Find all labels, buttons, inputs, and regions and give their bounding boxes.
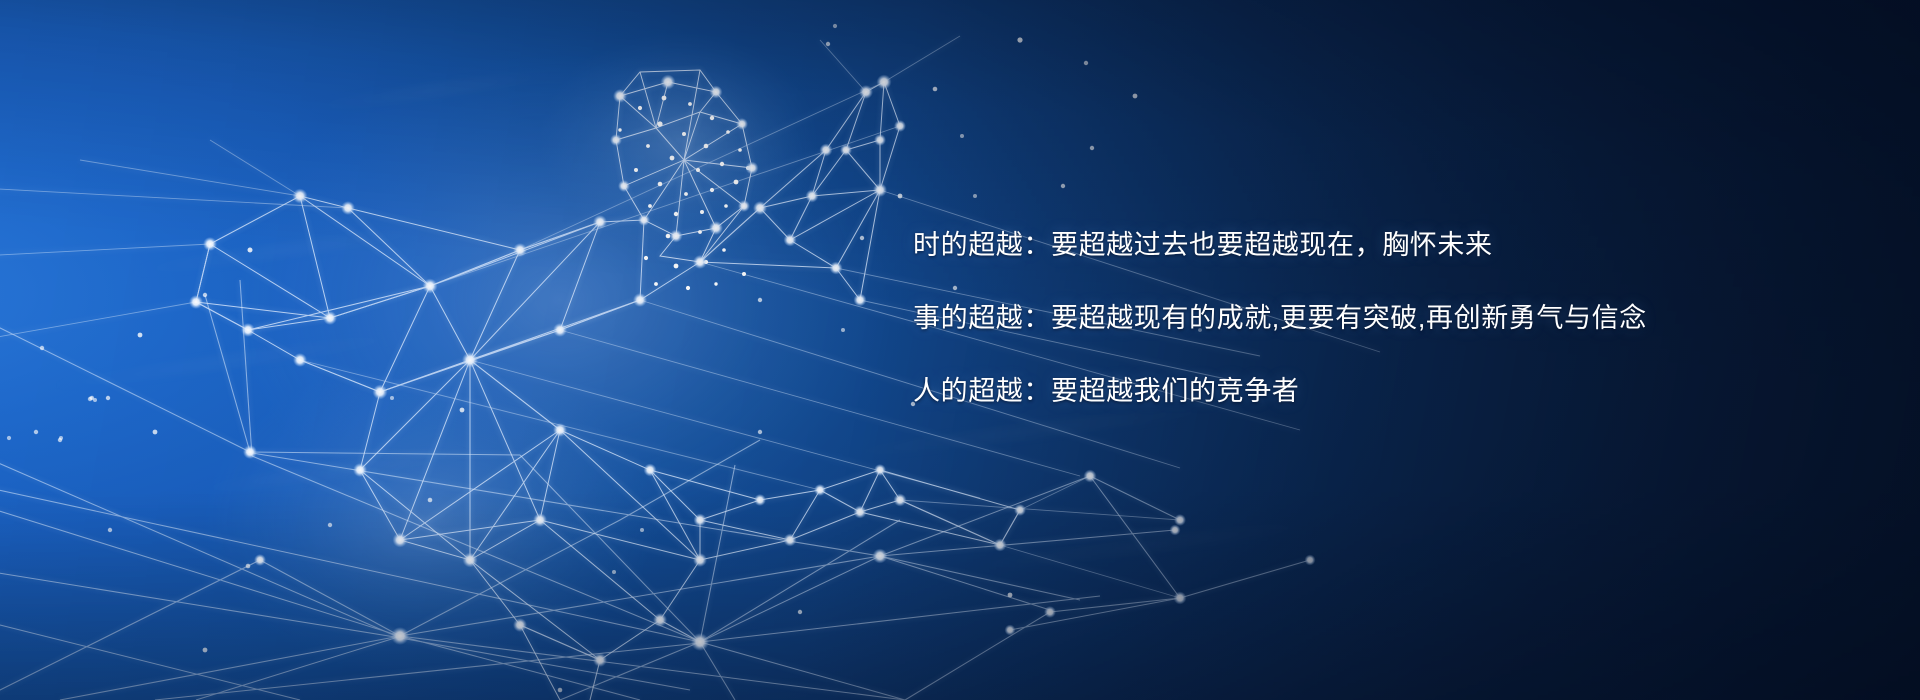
hero-banner: 时的超越：要超越过去也要超越现在，胸怀未来 事的超越：要超越现有的成就,更要有突… [0,0,1920,700]
slogan-line-people: 人的超越：要超越我们的竞争者 [913,378,1793,405]
slogan-line-time: 时的超越：要超越过去也要超越现在，胸怀未来 [913,232,1793,259]
slogan-text-block: 时的超越：要超越过去也要超越现在，胸怀未来 事的超越：要超越现有的成就,更要有突… [913,232,1793,405]
slogan-line-achievement: 事的超越：要超越现有的成就,更要有突破,再创新勇气与信念 [913,305,1793,332]
